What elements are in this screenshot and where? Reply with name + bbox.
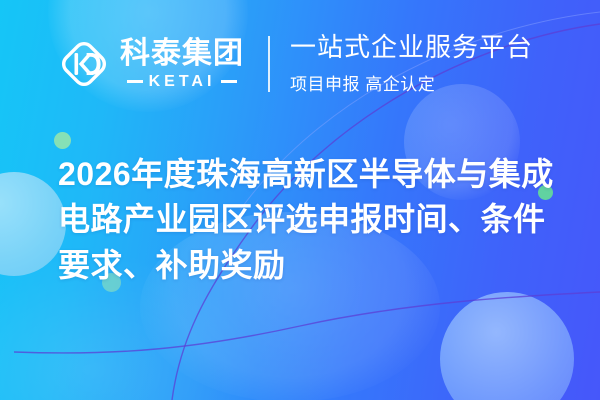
dash-right-icon — [221, 80, 237, 83]
slogan-sub: 项目申报 高企认定 — [290, 70, 533, 95]
brand-wordmark: 科泰集团 KETAI — [120, 39, 244, 90]
slogan-main: 一站式企业服务平台 — [290, 33, 533, 62]
light-circle-bottom-right — [440, 292, 574, 400]
page-title: 2026年度珠海高新区半导体与集成电路产业园区评选申报时间、条件要求、补助奖励 — [58, 152, 570, 288]
banner-header: 科泰集团 KETAI 一站式企业服务平台 项目申报 高企认定 — [0, 0, 600, 128]
slogan-block: 一站式企业服务平台 项目申报 高企认定 — [290, 33, 533, 94]
ketai-diamond-kd-logo-icon — [58, 38, 110, 90]
green-dot-left — [54, 132, 71, 149]
promo-banner: 科泰集团 KETAI 一站式企业服务平台 项目申报 高企认定 2026年度珠海高… — [0, 0, 600, 400]
header-divider — [268, 36, 270, 92]
brand-name-en-row: KETAI — [127, 74, 238, 90]
brand-name-cn: 科泰集团 — [120, 39, 244, 69]
dash-left-icon — [127, 80, 143, 83]
brand-logo: 科泰集团 KETAI — [58, 38, 244, 90]
brand-name-en: KETAI — [149, 74, 216, 90]
light-circle-left-edge — [0, 172, 66, 276]
